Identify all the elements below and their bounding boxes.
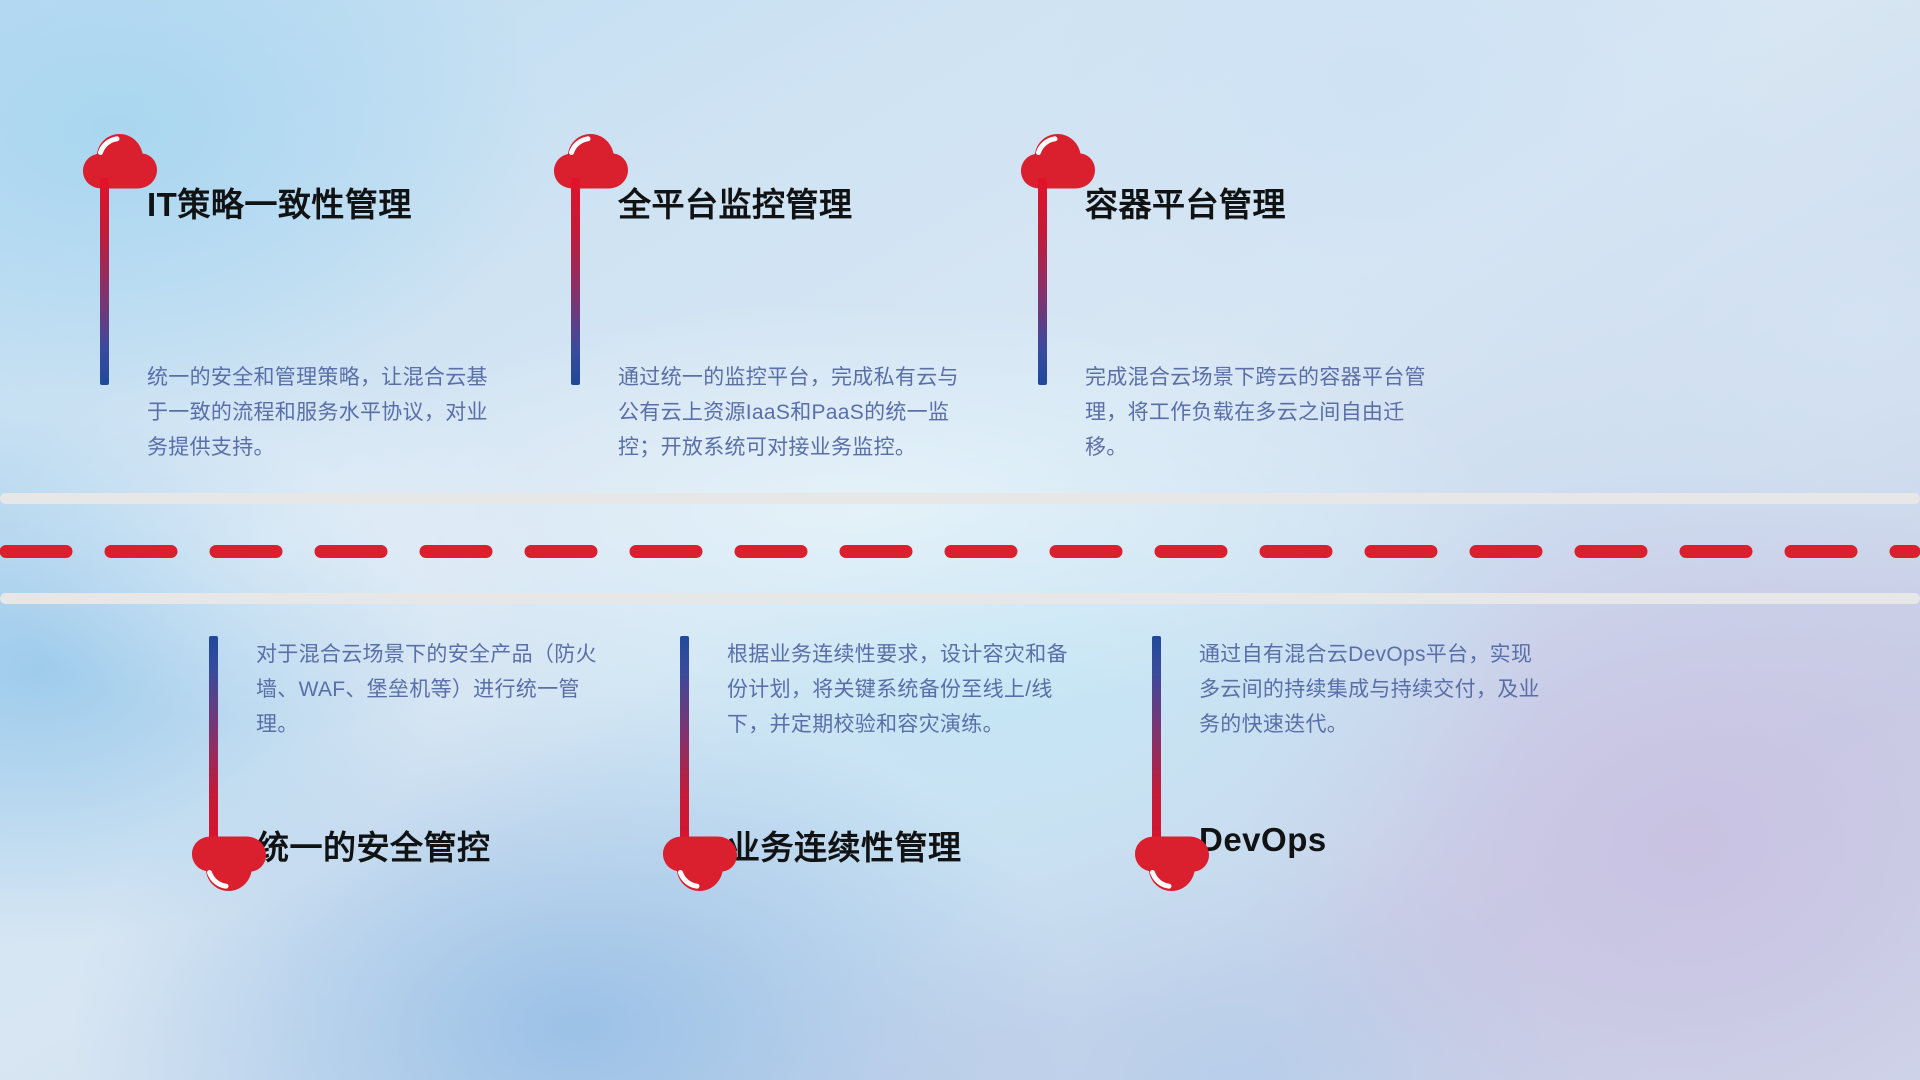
road-edge-lower [0,593,1920,604]
cloud-icon [191,836,267,892]
stem-line [209,636,218,843]
card-title: 容器平台管理 [1085,178,1286,226]
background-gradient [0,0,1920,1080]
card-body: 完成混合云场景下跨云的容器平台管理，将工作负载在多云之间自由迁移。 [1085,360,1445,465]
stem-line [1038,178,1047,385]
stem-line [680,636,689,843]
cloud-icon [662,836,738,892]
card-body: 统一的安全和管理策略，让混合云基于一致的流程和服务水平协议，对业务提供支持。 [147,360,497,465]
stem-line [571,178,580,385]
stem-line [100,178,109,385]
cloud-icon [1134,836,1210,892]
card-title: IT策略一致性管理 [147,178,412,226]
card-title: 全平台监控管理 [618,178,853,226]
card-title: 统一的安全管控 [256,821,491,869]
card-title: DevOps [1199,821,1327,859]
card-body: 对于混合云场景下的安全产品（防火墙、WAF、堡垒机等）进行统一管理。 [256,637,606,742]
card-title: 业务连续性管理 [727,821,962,869]
stem-line [1152,636,1161,843]
card-body: 根据业务连续性要求，设计容灾和备份计划，将关键系统备份至线上/线下，并定期校验和… [727,637,1077,742]
road-edge-upper [0,493,1920,504]
card-body: 通过自有混合云DevOps平台，实现多云间的持续集成与持续交付，及业务的快速迭代… [1199,637,1549,742]
road-center-dashes [0,545,1920,558]
card-body: 通过统一的监控平台，完成私有云与公有云上资源IaaS和PaaS的统一监控；开放系… [618,360,978,465]
